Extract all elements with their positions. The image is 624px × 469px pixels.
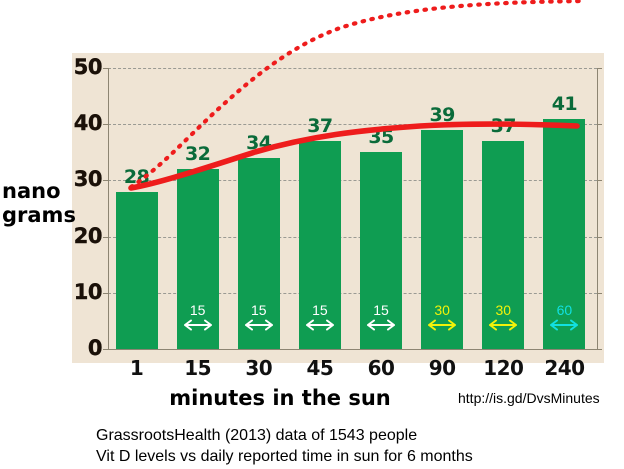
interval-arrow-label: 30 [485,303,521,317]
y-axis-line [108,68,109,350]
bar-value-label: 37 [476,117,530,136]
x-axis-line [108,349,598,350]
bar-value-label: 41 [537,95,591,114]
y-axis-tick-label: 20 [12,226,102,247]
y-axis-tick [103,293,108,294]
y-axis-title-line1: nano [2,180,76,204]
interval-arrow-annotation: 15 [180,303,216,333]
y-axis-tick [103,124,108,125]
chart-canvas: 50403020100 nano grams minutes in the su… [0,0,624,469]
y-axis-right-line [597,68,598,350]
x-axis-tick-label: 30 [224,358,294,378]
interval-arrow-label: 15 [241,303,277,317]
interval-arrow-annotation: 30 [485,303,521,333]
bar-value-label: 32 [171,145,225,164]
interval-arrow-label: 30 [424,303,460,317]
chart-caption: GrassrootsHealth (2013) data of 1543 peo… [96,425,473,467]
y-axis-tick [103,349,108,350]
double-headed-arrow-icon [363,318,399,332]
y-axis-tick-right [597,237,602,238]
x-axis-tick-label: 240 [529,358,599,378]
caption-line-2: Vit D levels vs daily reported time in s… [96,446,473,467]
gridline [108,68,597,69]
y-axis-title: nano grams [2,180,76,227]
y-axis-title-line2: grams [2,204,76,228]
y-axis-tick-label: 40 [12,113,102,134]
interval-arrow-annotation: 15 [302,303,338,333]
interval-arrow-annotation: 30 [424,303,460,333]
x-axis-tick-label: 15 [163,358,233,378]
interval-arrow-label: 15 [302,303,338,317]
y-axis-tick-right [597,293,602,294]
y-axis-tick-label: 50 [12,57,102,78]
y-axis-tick [103,180,108,181]
interval-arrow-annotation: 15 [241,303,277,333]
double-headed-arrow-icon [302,318,338,332]
y-axis-tick-label: 10 [12,282,102,303]
double-headed-arrow-icon [424,318,460,332]
x-axis-tick-label: 120 [468,358,538,378]
interval-arrow-label: 15 [180,303,216,317]
bar-value-label: 39 [415,106,469,125]
double-headed-arrow-icon [485,318,521,332]
bar[interactable] [116,192,158,349]
x-axis-title: minutes in the sun [110,388,450,409]
y-axis-tick-right [597,180,602,181]
y-axis-tick-right [597,124,602,125]
x-axis-tick-label: 60 [346,358,416,378]
bar-value-label: 35 [354,128,408,147]
bar-value-label: 28 [110,168,164,187]
y-axis-tick-right [597,68,602,69]
y-axis-tick [103,68,108,69]
bar-value-label: 37 [293,117,347,136]
source-url[interactable]: http://is.gd/DvsMinutes [458,391,600,405]
y-axis-tick-label: 0 [12,338,102,359]
interval-arrow-annotation: 15 [363,303,399,333]
x-axis-tick-label: 45 [285,358,355,378]
interval-arrow-label: 15 [363,303,399,317]
caption-line-1: GrassrootsHealth (2013) data of 1543 peo… [96,425,473,446]
double-headed-arrow-icon [180,318,216,332]
double-headed-arrow-icon [241,318,277,332]
interval-arrow-annotation: 60 [546,303,582,333]
double-headed-arrow-icon [546,318,582,332]
x-axis-tick-label: 1 [102,358,172,378]
bar-value-label: 34 [232,134,286,153]
y-axis-tick [103,237,108,238]
x-axis-tick-label: 90 [407,358,477,378]
interval-arrow-label: 60 [546,303,582,317]
y-axis-tick-right [597,349,602,350]
